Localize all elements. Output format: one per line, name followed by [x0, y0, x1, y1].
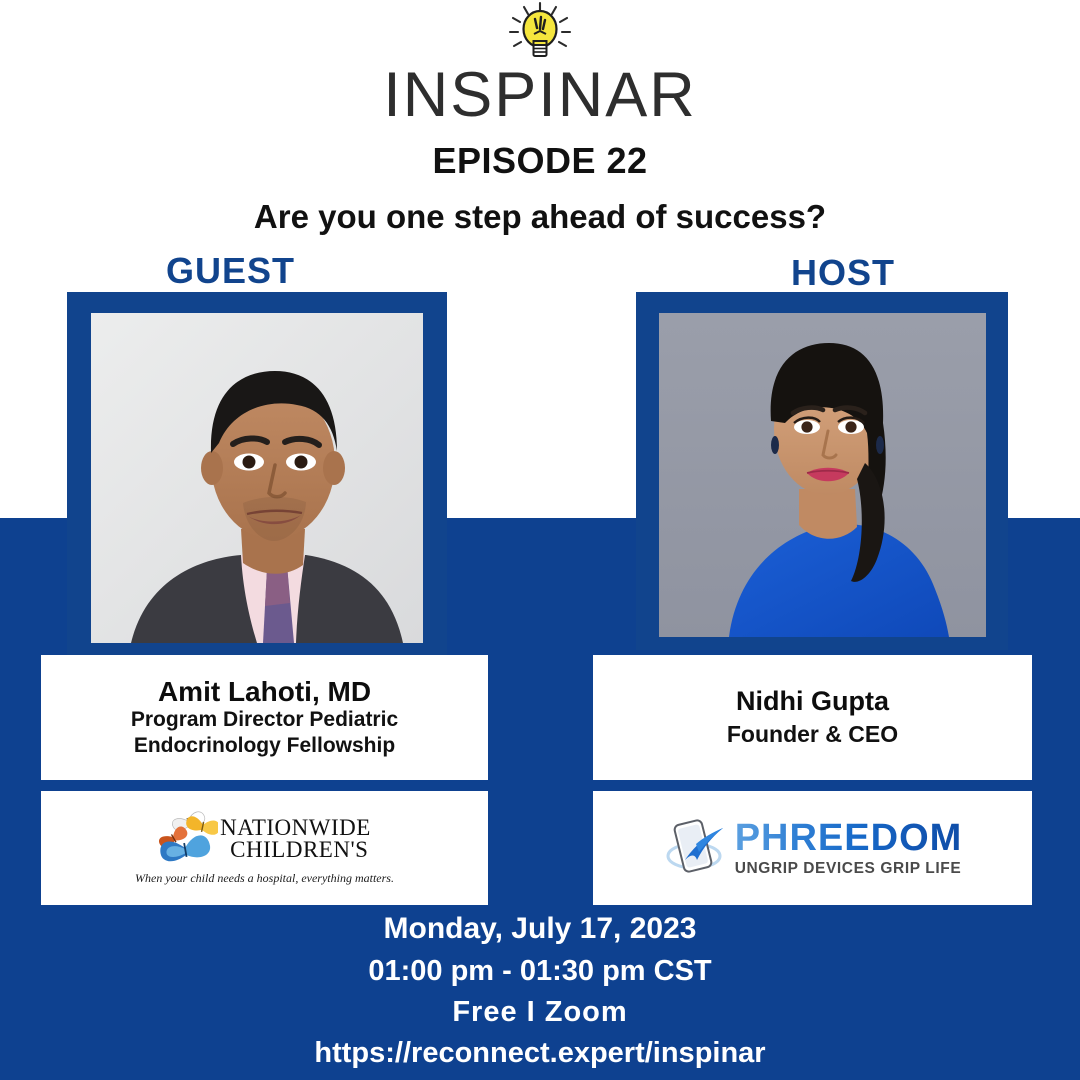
event-promo-poster: INSPINAR EPISODE 22 Are you one step ahe… — [0, 0, 1080, 1080]
host-org-logo-card: PHREEDOM UNGRIP DEVICES GRIP LIFE — [593, 791, 1032, 905]
event-url[interactable]: https://reconnect.expert/inspinar — [0, 1033, 1080, 1074]
event-time: 01:00 pm - 01:30 pm CST — [0, 951, 1080, 992]
episode-number: EPISODE 22 — [0, 140, 1080, 182]
phreedom-tagline: UNGRIP DEVICES GRIP LIFE — [735, 860, 962, 878]
phone-bird-icon — [663, 814, 729, 883]
guest-role-label: GUEST — [166, 250, 295, 292]
guest-photo — [91, 313, 423, 643]
phreedom-word: PHREEDOM — [735, 819, 963, 857]
guest-title-line1: Program Director Pediatric — [131, 707, 398, 733]
host-photo — [659, 313, 986, 637]
childrens-word: CHILDREN'S — [230, 839, 368, 861]
host-name: Nidhi Gupta — [736, 686, 889, 716]
event-details-footer: Monday, July 17, 2023 01:00 pm - 01:30 p… — [0, 908, 1080, 1074]
nationwide-word: NATIONWIDE — [220, 817, 371, 839]
lightbulb-icon — [0, 0, 1080, 62]
guest-title-line2: Endocrinology Fellowship — [131, 733, 398, 759]
nationwide-childrens-logo: NATIONWIDE CHILDREN'S When your child ne… — [135, 811, 394, 886]
guest-title: Program Director Pediatric Endocrinology… — [131, 707, 398, 760]
guest-name-card: Amit Lahoti, MD Program Director Pediatr… — [41, 655, 488, 780]
phreedom-logo: PHREEDOM UNGRIP DEVICES GRIP LIFE — [663, 814, 963, 883]
episode-tagline: Are you one step ahead of success? — [0, 198, 1080, 236]
event-date: Monday, July 17, 2023 — [0, 908, 1080, 951]
butterflies-icon — [158, 811, 218, 868]
host-role-label: HOST — [791, 252, 895, 294]
guest-name: Amit Lahoti, MD — [158, 676, 371, 707]
brand-logo: INSPINAR — [0, 0, 1080, 127]
brand-name: INSPINAR — [0, 64, 1080, 127]
event-price-platform: Free I Zoom — [0, 992, 1080, 1033]
host-title: Founder & CEO — [727, 720, 898, 749]
host-name-card: Nidhi Gupta Founder & CEO — [593, 655, 1032, 780]
nationwide-tagline: When your child needs a hospital, everyt… — [135, 871, 394, 886]
guest-org-logo-card: NATIONWIDE CHILDREN'S When your child ne… — [41, 791, 488, 905]
